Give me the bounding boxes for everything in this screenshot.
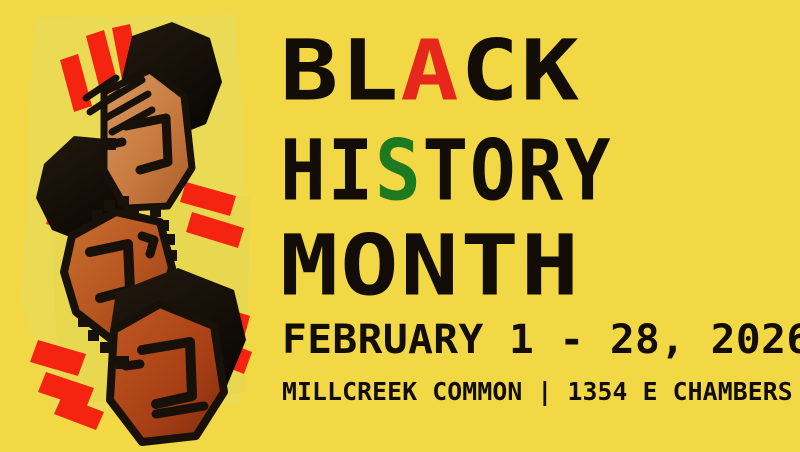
black-history-month-poster: BLACK HISTORY MONTH FEBRUARY 1 - 28, 202… <box>0 0 800 452</box>
headline-line-month: MONTH <box>280 225 581 309</box>
headline-history-pre: HI <box>280 123 375 220</box>
headline-black-post: CK <box>461 23 581 120</box>
face-bottom <box>110 268 246 442</box>
headline-black-pre: BL <box>280 23 400 120</box>
event-venue-text: MILLCREEK COMMON | 1354 E CHAMBERS AVE <box>282 379 800 404</box>
text-block: BLACK HISTORY MONTH FEBRUARY 1 - 28, 202… <box>276 0 800 452</box>
headline-history-post: TORY <box>422 123 612 220</box>
headline-history-accent-s: S <box>375 123 422 220</box>
event-date-text: FEBRUARY 1 - 28, 2026 <box>282 320 800 360</box>
artwork-illustration <box>0 0 275 452</box>
headline-line-black: BLACK <box>280 30 581 114</box>
headline-line-history: HISTORY <box>280 130 612 214</box>
headline-black-accent-a: A <box>400 23 460 120</box>
